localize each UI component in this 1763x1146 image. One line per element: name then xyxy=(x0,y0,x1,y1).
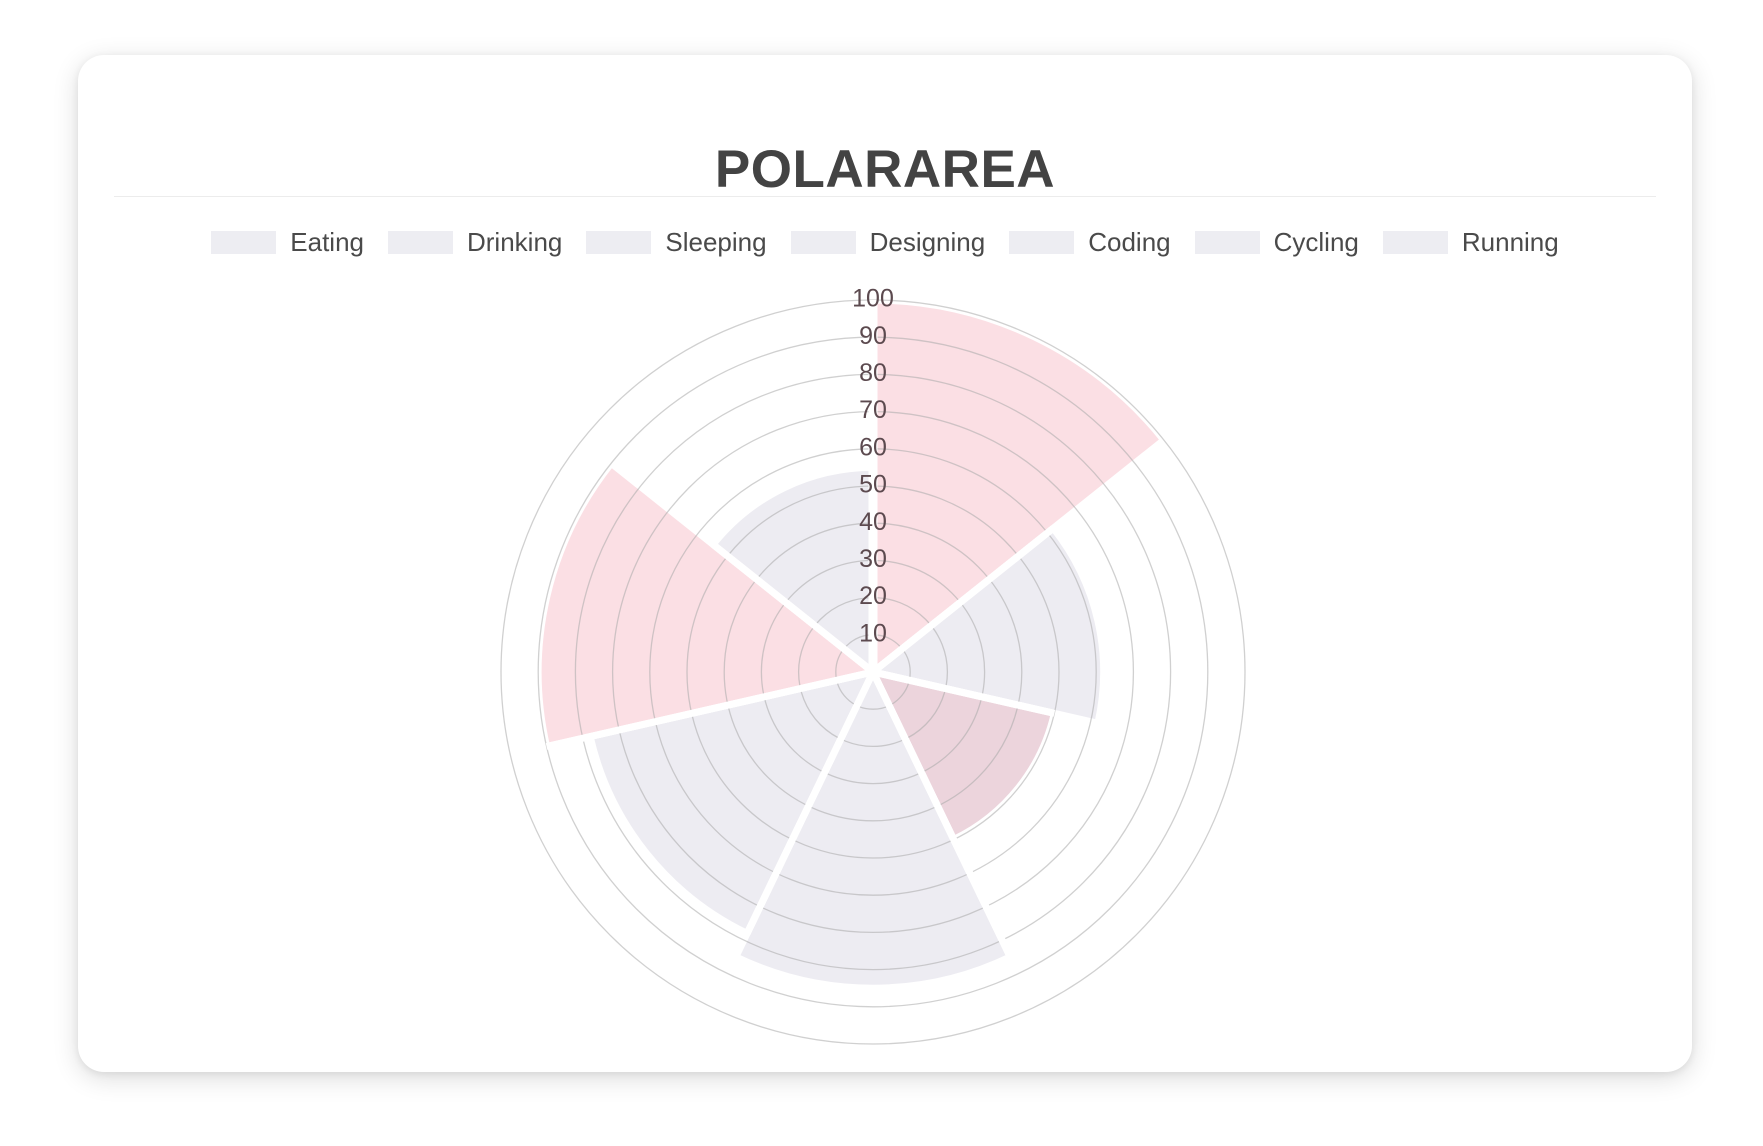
radial-tick-label-50: 50 xyxy=(859,471,887,499)
radial-tick-label-90: 90 xyxy=(859,322,887,350)
chart-sectors[interactable] xyxy=(538,300,1164,988)
radial-tick-label-20: 20 xyxy=(859,582,887,610)
radial-tick-label-80: 80 xyxy=(859,359,887,387)
radial-tick-label-30: 30 xyxy=(859,545,887,573)
radial-tick-label-70: 70 xyxy=(859,396,887,424)
radial-tick-label-60: 60 xyxy=(859,433,887,461)
radial-tick-label-100: 100 xyxy=(852,285,894,313)
page-root: POLARAREA EatingDrinkingSleepingDesignin… xyxy=(0,0,1763,1146)
radial-tick-label-40: 40 xyxy=(859,508,887,536)
radial-tick-label-10: 10 xyxy=(859,619,887,647)
polar-area-chart[interactable]: 102030405060708090100 xyxy=(78,55,1692,1072)
chart-card: POLARAREA EatingDrinkingSleepingDesignin… xyxy=(78,55,1692,1072)
